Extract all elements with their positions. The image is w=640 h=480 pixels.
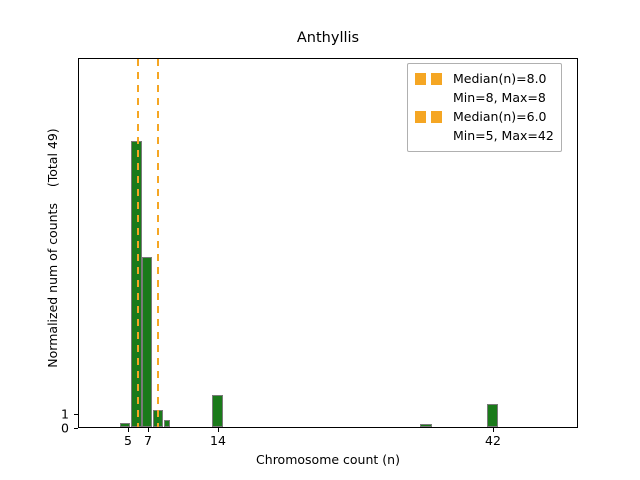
y-axis-label-wrap: Normalized num of counts (Total 49) — [42, 63, 62, 433]
legend-item-minmax-8: Min=8, Max=8 — [415, 88, 554, 107]
median-line-6 — [137, 59, 139, 427]
xtick-label-14: 14 — [210, 433, 226, 448]
xtick-mark-7 — [148, 428, 149, 432]
xtick-label-5: 5 — [124, 433, 132, 448]
legend: Median(n)=8.0 Min=8, Max=8 Median(n)=6.0… — [407, 63, 562, 152]
xtick-label-42: 42 — [485, 433, 501, 448]
ytick-mark-1 — [74, 414, 78, 415]
bar-n-8 — [164, 420, 170, 427]
blank-swatch-icon-2 — [415, 130, 445, 142]
xtick-mark-42 — [493, 428, 494, 432]
xtick-mark-5 — [128, 428, 129, 432]
blank-swatch-icon — [415, 92, 445, 104]
ytick-label-1: 1 — [61, 407, 69, 422]
legend-label-minmax-8: Min=8, Max=8 — [453, 90, 546, 105]
x-axis-label: Chromosome count (n) — [78, 452, 578, 467]
dashed-line-icon-2 — [415, 111, 445, 123]
legend-item-minmax-6: Min=5, Max=42 — [415, 126, 554, 145]
dashed-line-icon — [415, 73, 445, 85]
bar-n-42 — [487, 404, 498, 427]
xtick-label-7: 7 — [144, 433, 152, 448]
median-line-8 — [157, 59, 159, 427]
legend-item-median-6: Median(n)=6.0 — [415, 107, 554, 126]
bar-n-14 — [212, 395, 223, 427]
y-axis-label: Normalized num of counts (Total 49) — [45, 128, 60, 367]
bar-n-6 — [142, 257, 152, 427]
legend-label-median-8: Median(n)=8.0 — [453, 71, 547, 86]
xtick-mark-14 — [218, 428, 219, 432]
ytick-mark-0 — [74, 428, 78, 429]
bar-n-4 — [120, 423, 130, 427]
chart-title: Anthyllis — [78, 30, 578, 46]
legend-label-median-6: Median(n)=6.0 — [453, 109, 547, 124]
chart-figure: Anthyllis 5 7 14 42 1 0 Chromosome count… — [0, 0, 640, 480]
ytick-label-0: 0 — [61, 421, 69, 436]
bar-n-35 — [420, 424, 432, 427]
legend-item-median-8: Median(n)=8.0 — [415, 69, 554, 88]
legend-label-minmax-6: Min=5, Max=42 — [453, 128, 554, 143]
